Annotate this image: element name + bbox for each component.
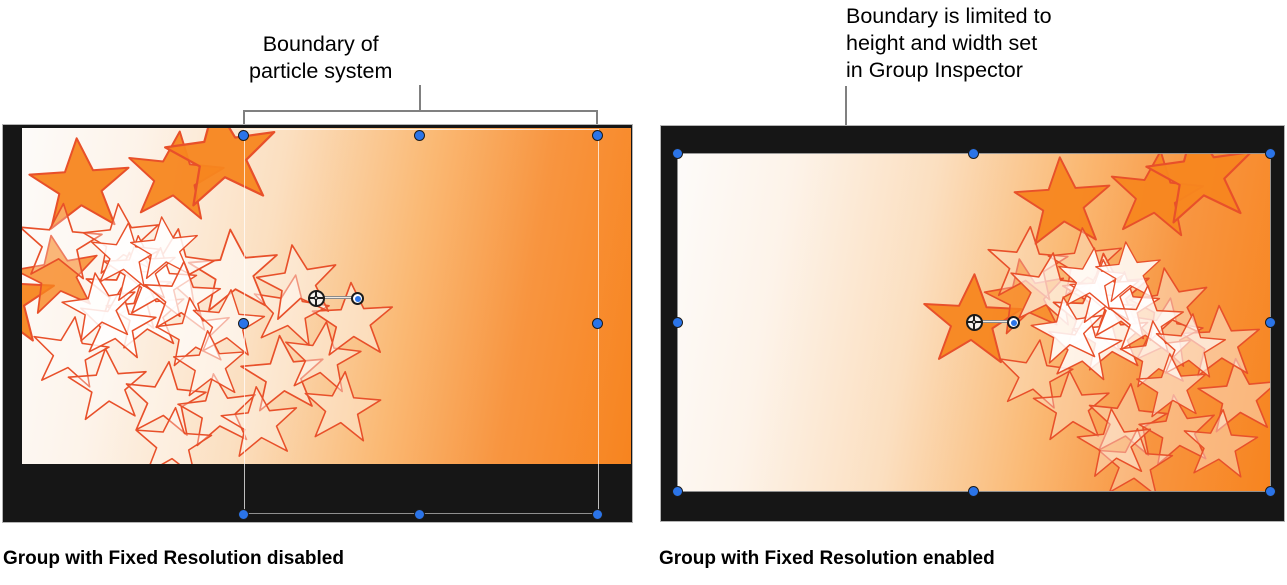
illustration-root: Boundary of particle system Boundary is … — [0, 0, 1287, 585]
selection-handle-middle-left[interactable] — [238, 318, 249, 329]
selection-handle-bottom-center[interactable] — [968, 486, 979, 497]
selection-handle-bottom-left[interactable] — [238, 509, 249, 520]
selection-handle-top-left[interactable] — [238, 130, 249, 141]
callout-text-left: Boundary of particle system — [249, 31, 392, 85]
selection-handle-bottom-center[interactable] — [414, 509, 425, 520]
selection-handle-middle-right[interactable] — [1265, 317, 1276, 328]
selection-handle-top-right[interactable] — [1265, 148, 1276, 159]
selection-handle-middle-left[interactable] — [672, 317, 683, 328]
selection-handle-top-right[interactable] — [592, 130, 603, 141]
emitter-handle-left[interactable] — [351, 292, 364, 305]
selection-handle-top-center[interactable] — [414, 130, 425, 141]
bracket-left-stem — [419, 85, 421, 111]
selection-handle-top-center[interactable] — [968, 148, 979, 159]
emitter-anchor-right[interactable] — [966, 314, 983, 331]
selection-handle-top-left[interactable] — [672, 148, 683, 159]
emitter-handle-right[interactable] — [1007, 316, 1020, 329]
emitter-anchor-left[interactable] — [308, 290, 325, 307]
selection-handle-bottom-left[interactable] — [672, 486, 683, 497]
selection-handle-middle-right[interactable] — [592, 318, 603, 329]
caption-left: Group with Fixed Resolution disabled — [3, 548, 344, 570]
callout-text-right: Boundary is limited to height and width … — [846, 3, 1052, 84]
caption-right: Group with Fixed Resolution enabled — [659, 548, 995, 570]
canvas-left[interactable] — [2, 124, 633, 523]
selection-handle-bottom-right[interactable] — [592, 509, 603, 520]
selection-handle-bottom-right[interactable] — [1265, 486, 1276, 497]
